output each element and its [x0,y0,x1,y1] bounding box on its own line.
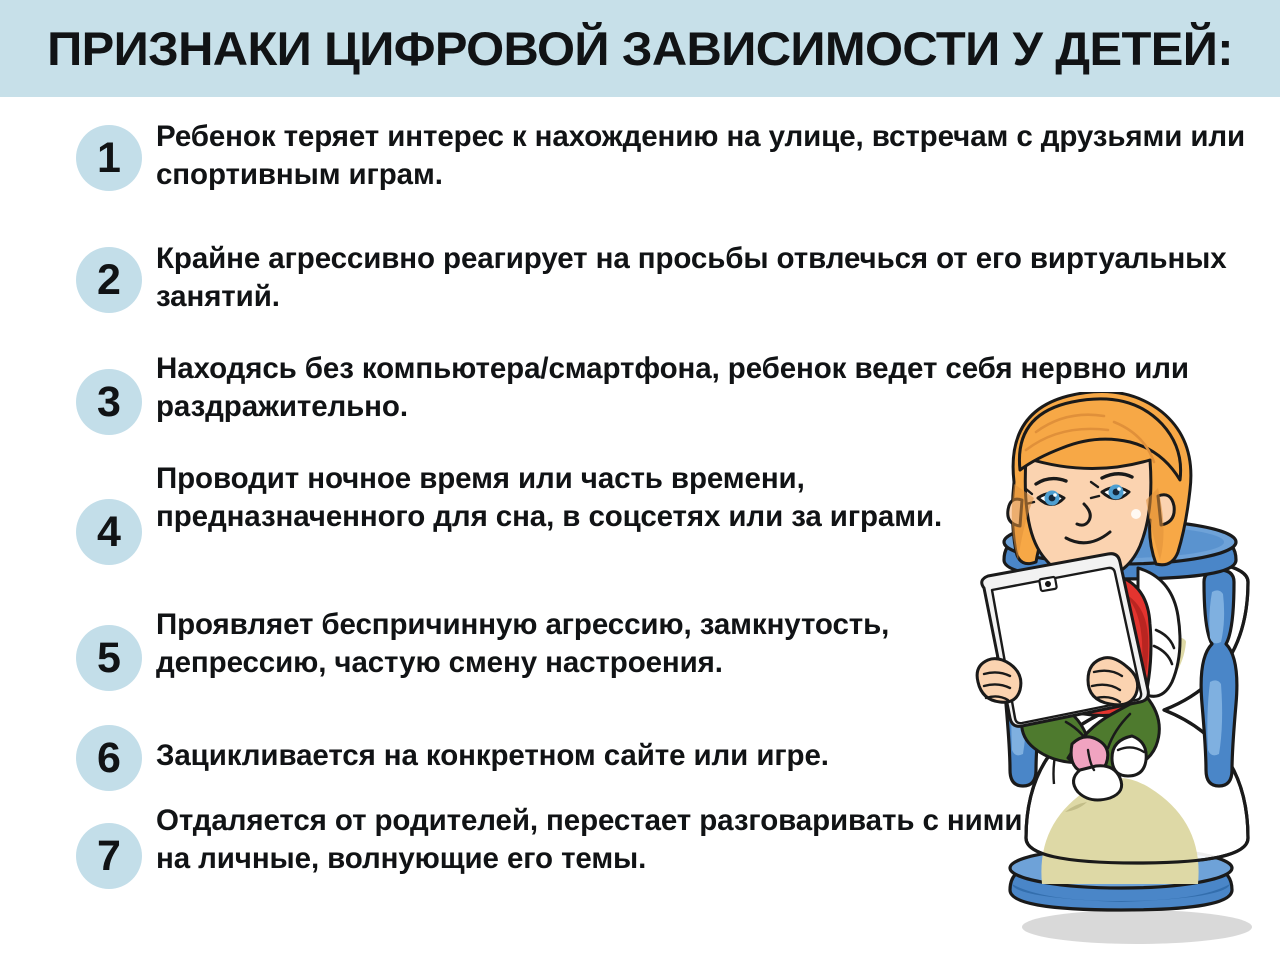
item-text: Ребенок теряет интерес к нахождению на у… [156,118,1246,194]
infographic-poster: ПРИЗНАКИ ЦИФРОВОЙ ЗАВИСИМОСТИ У ДЕТЕЙ: 1… [0,0,1280,959]
item-number-badge: 1 [76,125,142,191]
item-text: Зацикливается на конкретном сайте или иг… [156,737,1056,775]
item-number-badge: 5 [76,625,142,691]
item-text: Отдаляется от родителей, перестает разго… [156,802,1056,878]
girl-with-tablet-on-hourglass-illustration [962,392,1280,952]
item-number-badge: 4 [76,499,142,565]
cheek-highlight [1131,509,1141,519]
item-text: Проявляет беспричинную агрессию, замкнут… [156,606,1056,682]
post-right-highlight2 [1207,680,1222,755]
item-number-badge: 2 [76,247,142,313]
shoe-right [1112,736,1146,776]
post-right-highlight [1209,590,1224,643]
item-number-badge: 6 [76,725,142,791]
item-text: Крайне агрессивно реагирует на просьбы о… [156,240,1236,316]
item-number-badge: 3 [76,369,142,435]
page-title: ПРИЗНАКИ ЦИФРОВОЙ ЗАВИСИМОСТИ У ДЕТЕЙ: [0,0,1280,97]
drop-shadow [1022,910,1252,944]
item-text: Проводит ночное время или часть времени,… [156,460,986,536]
item-number-badge: 7 [76,823,142,889]
